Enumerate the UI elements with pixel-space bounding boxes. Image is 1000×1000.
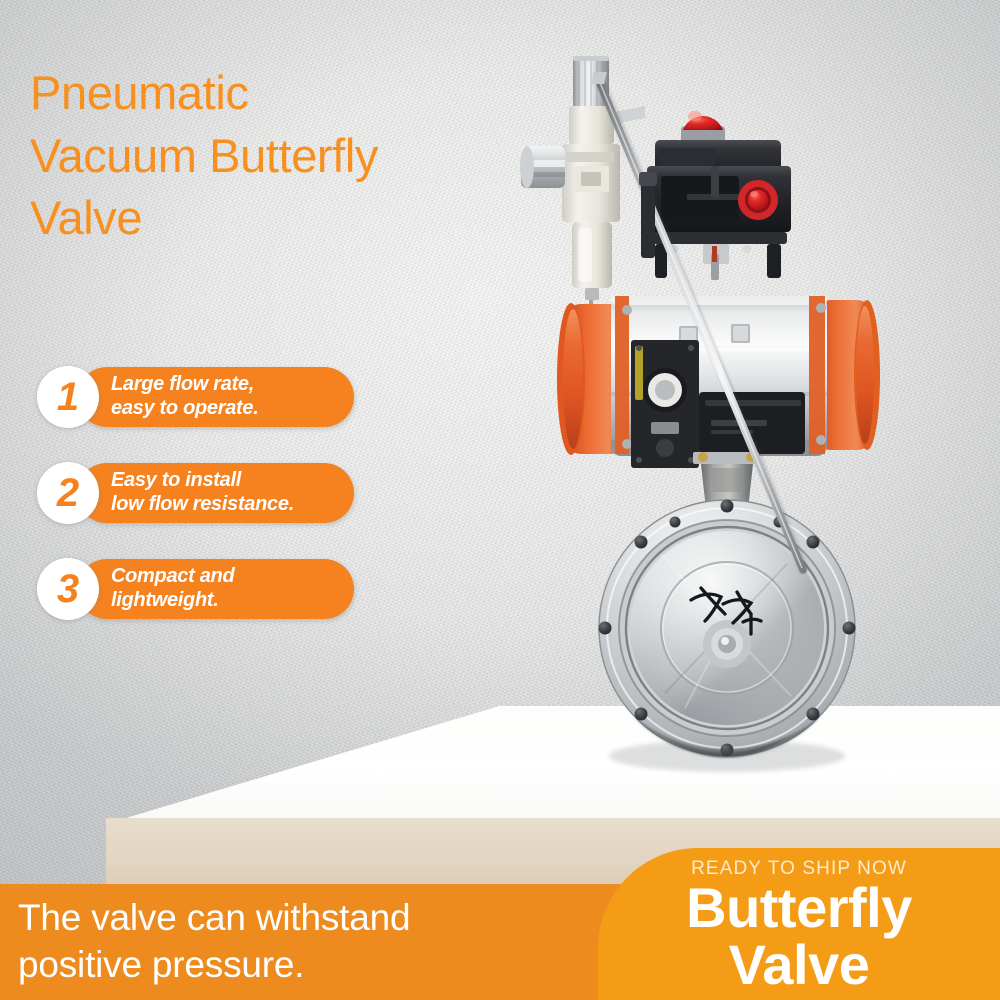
- feature-text-3: Compact and lightweight.: [111, 565, 234, 612]
- ready-to-ship-panel: READY TO SHIP NOW Butterfly Valve: [598, 848, 1000, 1000]
- red-indicator-dome: [681, 111, 725, 144]
- page-title: Pneumatic Vacuum Butterfly Valve: [30, 62, 550, 250]
- product-image: [515, 48, 915, 788]
- feature-item-3: 3 Compact and lightweight.: [37, 556, 367, 622]
- rod-clamp: [639, 172, 657, 258]
- valve-flange: [599, 500, 856, 773]
- tagline-text: The valve can withstand positive pressur…: [18, 894, 618, 989]
- feature-list: 1 Large flow rate, easy to operate. 2 Ea…: [37, 364, 367, 652]
- feature-number-1: 1: [37, 366, 99, 428]
- feature-item-2: 2 Easy to install low flow resistance.: [37, 460, 367, 526]
- red-conduit-cap: [738, 180, 778, 220]
- pneumatic-actuator: [557, 296, 880, 468]
- feature-text-1: Large flow rate, easy to operate.: [111, 373, 259, 420]
- feature-item-1: 1 Large flow rate, easy to operate.: [37, 364, 367, 430]
- feature-number-3: 3: [37, 558, 99, 620]
- feature-number-2: 2: [37, 462, 99, 524]
- feature-text-2: Easy to install low flow resistance.: [111, 469, 294, 516]
- product-name-title: Butterfly Valve: [598, 879, 1000, 993]
- product-banner: Pneumatic Vacuum Butterfly Valve 1 Large…: [0, 0, 1000, 1000]
